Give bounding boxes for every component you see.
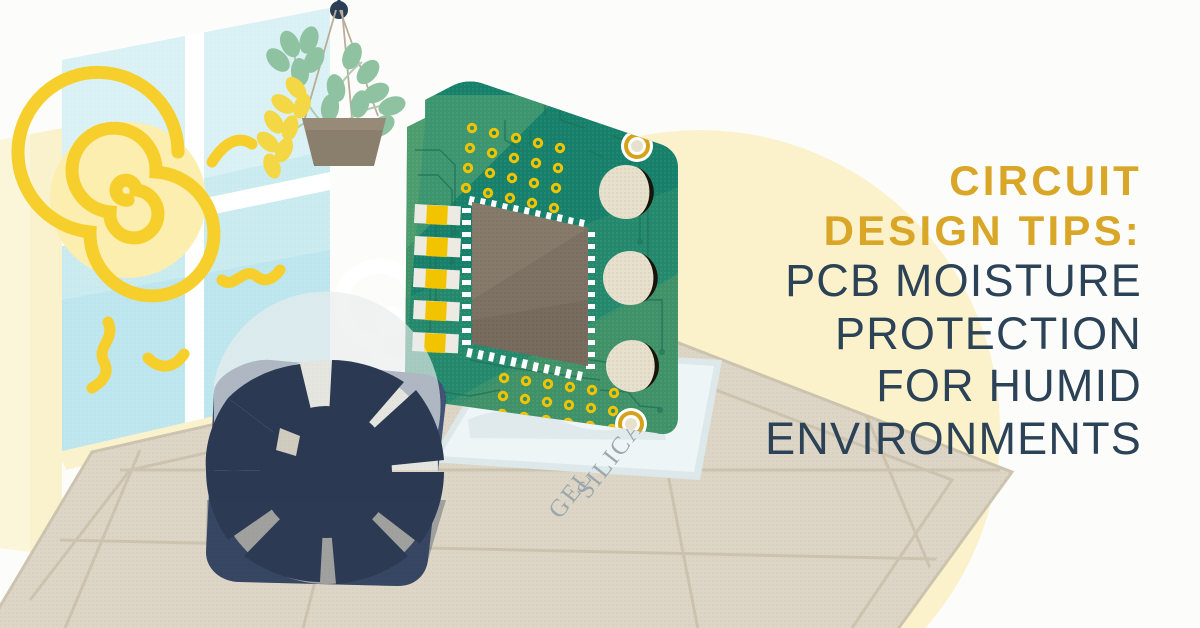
headline-line-5: FOR HUMID [542, 360, 1142, 413]
headline: CIRCUIT DESIGN TIPS: PCB MOISTURE PROTEC… [542, 156, 1142, 466]
headline-line-1: CIRCUIT [542, 156, 1142, 206]
headline-line-6: ENVIRONMENTS [542, 413, 1142, 466]
cooling-fan [206, 292, 446, 586]
headline-line-2: DESIGN TIPS: [542, 206, 1142, 256]
headline-line-4: PROTECTION [542, 308, 1142, 361]
headline-line-3: PCB MOISTURE [542, 255, 1142, 308]
poster-canvas: SILICA GEL [0, 0, 1200, 628]
